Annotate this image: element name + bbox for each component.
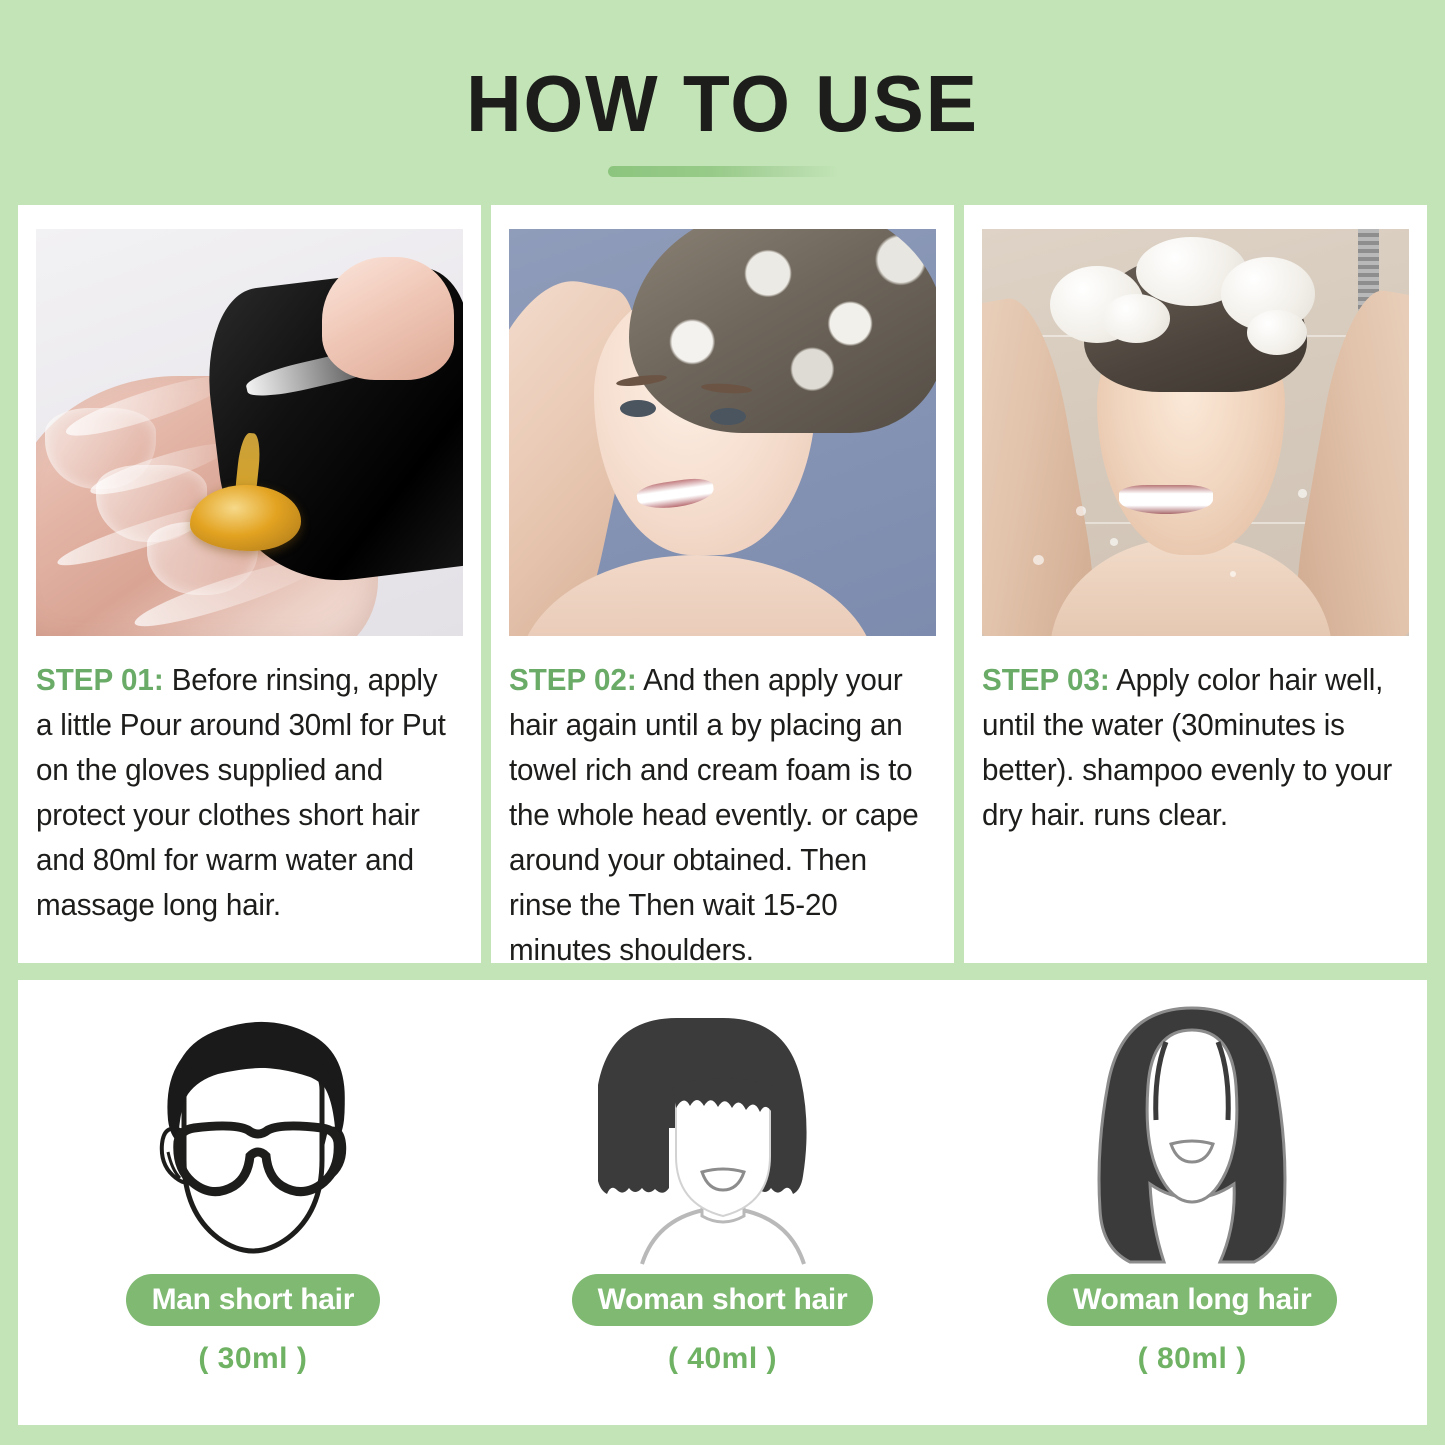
hair-type-volume-woman-long-hair: ( 80ml ) <box>1138 1342 1247 1376</box>
step-photo-pouring-oil-onto-gloved-hand <box>36 229 463 636</box>
page-title: HOW TO USE <box>29 58 1416 150</box>
step-card-02: STEP 02: And then apply your hair again … <box>491 205 954 963</box>
step-label-01: STEP 01: <box>36 663 164 697</box>
hair-type-volume-woman-short-hair: ( 40ml ) <box>668 1342 777 1376</box>
step-photo-woman-with-lathered-hair <box>509 229 936 636</box>
title-underline-decoration <box>608 166 838 177</box>
hair-type-woman-short-hair: Woman short hair ( 40ml ) <box>488 980 958 1425</box>
woman-long-hair-icon <box>1067 1002 1317 1270</box>
step-label-02: STEP 02: <box>509 663 637 697</box>
step-card-01: STEP 01: Before rinsing, apply a little … <box>18 205 481 963</box>
hair-type-dosage-card: Man short hair ( 30ml ) <box>18 980 1427 1425</box>
woman-short-hair-icon <box>598 1002 848 1270</box>
step-text-02: STEP 02: And then apply your hair again … <box>509 658 923 963</box>
step-body-02: And then apply your hair again until a b… <box>509 663 919 963</box>
header: HOW TO USE <box>0 0 1445 205</box>
hair-type-label-man-short-hair[interactable]: Man short hair <box>126 1274 381 1326</box>
man-short-hair-icon <box>128 1002 378 1270</box>
hair-type-woman-long-hair: Woman long hair ( 80ml ) <box>957 980 1427 1425</box>
step-text-01: STEP 01: Before rinsing, apply a little … <box>36 658 450 928</box>
steps-row: STEP 01: Before rinsing, apply a little … <box>18 205 1427 963</box>
step-body-01: Before rinsing, apply a little Pour arou… <box>36 663 446 922</box>
how-to-use-infographic: HOW TO USE <box>0 0 1445 1445</box>
step-card-03: STEP 03: Apply color hair well, until th… <box>964 205 1427 963</box>
step-text-03: STEP 03: Apply color hair well, until th… <box>982 658 1396 838</box>
hair-type-volume-man-short-hair: ( 30ml ) <box>198 1342 307 1376</box>
step-label-03: STEP 03: <box>982 663 1110 697</box>
hair-type-label-woman-short-hair[interactable]: Woman short hair <box>572 1274 874 1326</box>
step-photo-woman-rinsing-hair-in-shower <box>982 229 1409 636</box>
hair-type-man-short-hair: Man short hair ( 30ml ) <box>18 980 488 1425</box>
hair-type-label-woman-long-hair[interactable]: Woman long hair <box>1047 1274 1337 1326</box>
